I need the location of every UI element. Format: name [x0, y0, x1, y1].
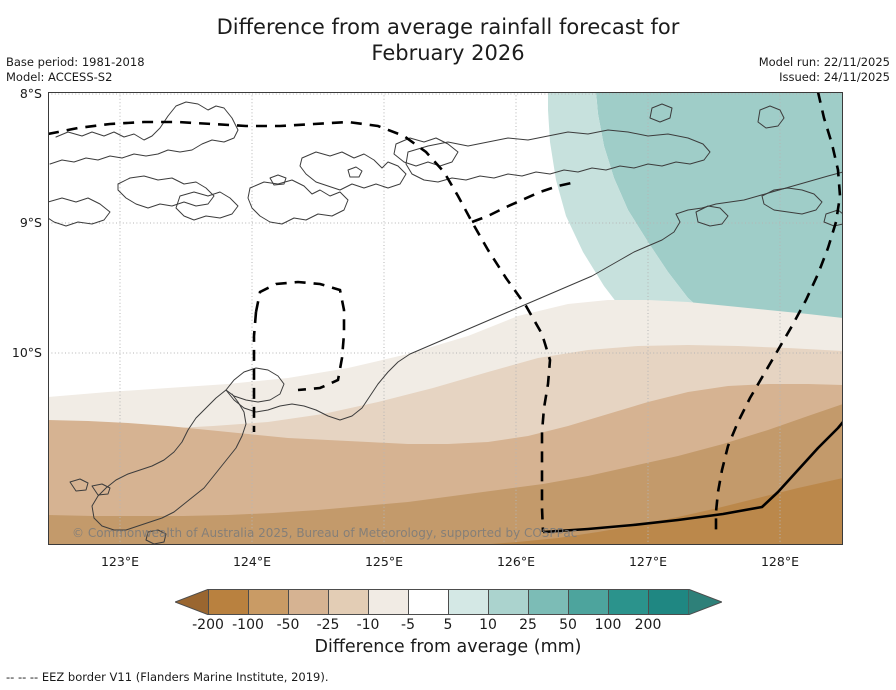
colorbar-segment-2[interactable] [289, 590, 329, 614]
colorbar-title: Difference from average (mm) [0, 637, 896, 657]
colorbar-segment-10[interactable] [609, 590, 649, 614]
xtick-label-125E: 125°E [349, 554, 419, 569]
ytick-label-10S: 10°S [2, 345, 42, 360]
map-svg [48, 92, 843, 545]
coastline-island-nw-4 [48, 198, 110, 226]
coastline-islet-b [348, 167, 362, 177]
xtick-label-123E: 123°E [85, 554, 155, 569]
colorbar-segment-8[interactable] [529, 590, 569, 614]
coastline-island-nw-1 [50, 102, 238, 164]
coastline-island-central-1 [248, 180, 348, 224]
title-line-1: Difference from average rainfall forecas… [0, 14, 896, 40]
colorbar-segment-5[interactable] [409, 590, 449, 614]
colorbar[interactable]: -200 -100 -50 -25 -10 -5 5 10 25 50 100 … [175, 589, 722, 615]
colorbar-segment-7[interactable] [489, 590, 529, 614]
colorbar-tick-11: 200 [618, 617, 678, 633]
colorbar-segment-6[interactable] [449, 590, 489, 614]
colorbar-segments[interactable] [208, 589, 689, 615]
issued-text: Issued: 24/11/2025 [759, 70, 890, 85]
xtick-label-126E: 126°E [481, 554, 551, 569]
map-plot-area[interactable] [48, 92, 843, 545]
colorbar-segment-9[interactable] [569, 590, 609, 614]
colorbar-extend-low-arrow [175, 589, 209, 615]
xtick-label-124E: 124°E [217, 554, 287, 569]
colorbar-segment-11[interactable] [649, 590, 688, 614]
coastline-island-nw-2 [118, 176, 214, 208]
colorbar-segment-3[interactable] [329, 590, 369, 614]
forecast-figure: Difference from average rainfall forecas… [0, 0, 896, 690]
eez-footnote: -- -- -- EEZ border V11 (Flanders Marine… [6, 670, 328, 684]
model-text: Model: ACCESS-S2 [6, 70, 145, 85]
coastline-island-nw-3 [176, 192, 238, 220]
anomaly-fill-negative [48, 300, 843, 545]
xtick-label-127E: 127°E [613, 554, 683, 569]
colorbar-segment-0[interactable] [209, 590, 249, 614]
metadata-right: Model run: 22/11/2025 Issued: 24/11/2025 [759, 55, 890, 84]
colorbar-segment-4[interactable] [369, 590, 409, 614]
base-period-text: Base period: 1981-2018 [6, 55, 145, 70]
xtick-label-128E: 128°E [745, 554, 815, 569]
coastline-island-central-2 [300, 152, 406, 190]
ytick-label-9S: 9°S [2, 215, 42, 230]
ytick-label-8S: 8°S [2, 86, 42, 101]
colorbar-extend-high-arrow [688, 589, 722, 615]
model-run-text: Model run: 22/11/2025 [759, 55, 890, 70]
colorbar-segment-1[interactable] [249, 590, 289, 614]
metadata-left: Base period: 1981-2018 Model: ACCESS-S2 [6, 55, 145, 84]
copyright-watermark: © Commonwealth of Australia 2025, Bureau… [72, 526, 577, 540]
colorbar-tick-labels: -200 -100 -50 -25 -10 -5 5 10 25 50 100 … [208, 615, 689, 639]
